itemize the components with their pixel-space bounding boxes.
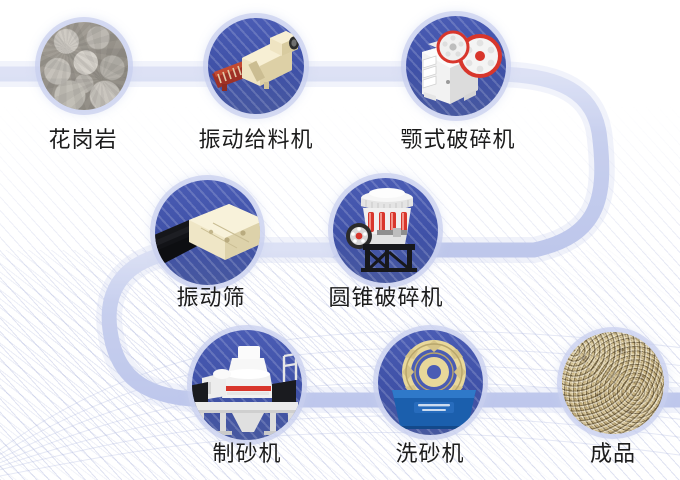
finished-product-bubble [562,332,664,434]
process-flow-diagram: 花岗岩 [0,0,680,480]
flow-node-sand-maker[interactable] [192,330,302,440]
flow-node-vibrating-feeder[interactable] [208,18,304,114]
flow-label-jaw-crusher: 颚式破碎机 [400,122,515,154]
vibrating-screen-icon [155,180,260,285]
sand-washing-machine-icon [378,330,483,435]
flow-label-vibrating-feeder: 振动给料机 [198,122,313,154]
granite-bubble [40,22,128,110]
vibrating-screen-bubble [155,180,260,285]
flow-label-sand-washer: 洗砂机 [395,436,464,468]
sand-washer-bubble [378,330,483,435]
finished-sand-texture-overlay [562,332,664,434]
flow-node-finished-product[interactable] [562,332,664,434]
jaw-crusher-icon [406,16,506,116]
vibrating-feeder-bubble [208,18,304,114]
granite-texture-overlay [40,22,128,110]
flow-node-vibrating-screen[interactable] [155,180,260,285]
flow-label-finished-product: 成品 [590,436,636,468]
cone-crusher-icon [333,178,438,283]
jaw-crusher-bubble [406,16,506,116]
flow-label-vibrating-screen: 振动筛 [176,280,245,312]
flow-label-cone-crusher: 圆锥破碎机 [328,280,443,312]
cone-crusher-bubble [333,178,438,283]
flow-node-granite[interactable] [40,22,128,110]
flow-node-sand-washer[interactable] [378,330,483,435]
flow-label-sand-maker: 制砂机 [212,436,281,468]
sand-maker-bubble [192,330,302,440]
vibrating-feeder-icon [208,18,304,114]
flow-node-cone-crusher[interactable] [333,178,438,283]
sand-making-machine-icon [192,330,302,440]
flow-label-granite: 花岗岩 [48,122,117,154]
flow-node-jaw-crusher[interactable] [406,16,506,116]
